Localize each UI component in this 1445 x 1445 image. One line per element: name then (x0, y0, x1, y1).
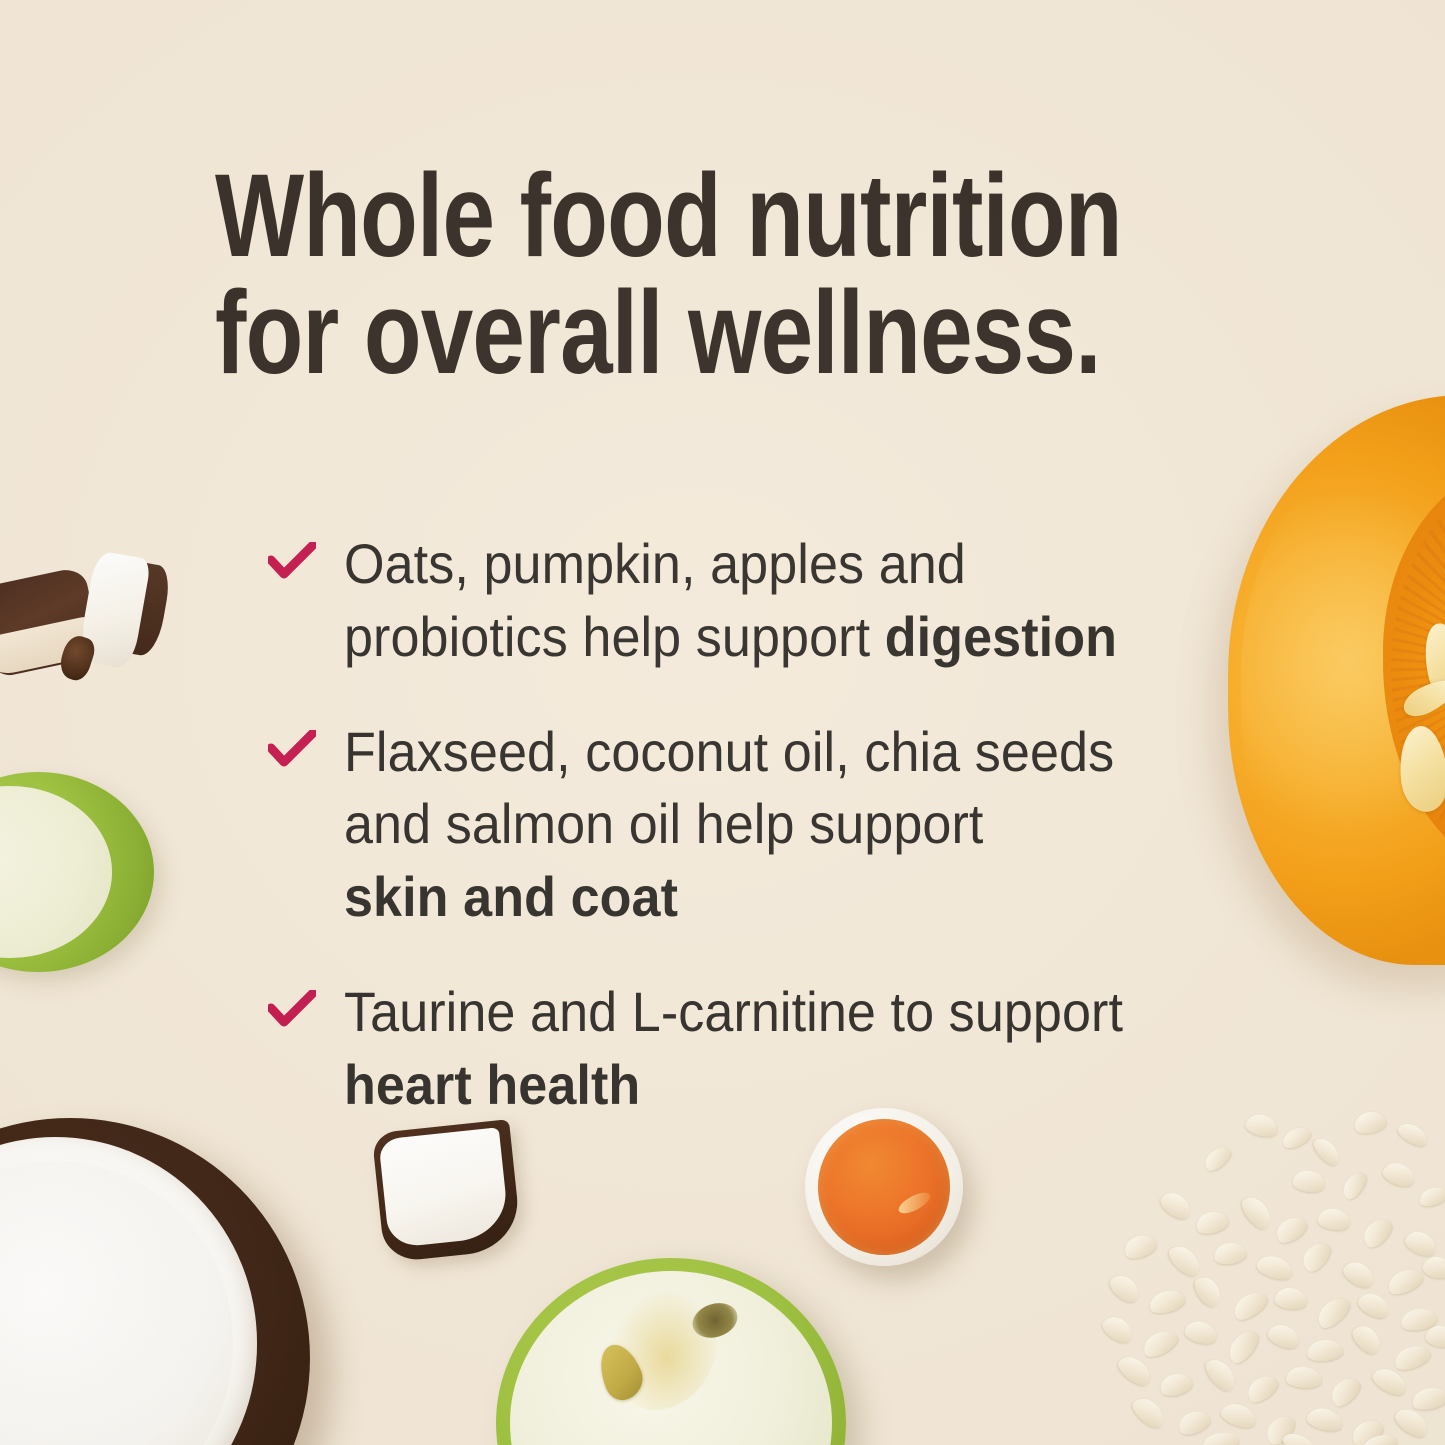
apple-slice-image (0, 772, 154, 972)
apple-half-image (496, 1258, 846, 1445)
promo-graphic: Whole food nutrition for overall wellnes… (0, 0, 1445, 1445)
checkmark-icon (268, 730, 316, 770)
oat-flake (1395, 1119, 1432, 1150)
oat-flake (1183, 1318, 1220, 1347)
oat-flake (1229, 1286, 1270, 1323)
coconut-half-image (0, 1118, 310, 1445)
oat-flake (1157, 1187, 1195, 1223)
oat-flake (1158, 1370, 1194, 1398)
oat-flake (1305, 1405, 1345, 1434)
headline-line-1: Whole food nutrition (215, 158, 1095, 275)
oat-flake (1355, 1288, 1393, 1321)
oat-flake (1298, 1238, 1335, 1276)
oat-flake (1348, 1321, 1385, 1359)
list-item-label: Taurine and L-carnitine to supportheart … (344, 976, 1157, 1122)
oat-flake (1402, 1227, 1440, 1260)
oat-flake (1175, 1407, 1213, 1438)
oat-flake (1391, 1341, 1432, 1373)
list-item-label: Oats, pumpkin, apples andprobiotics help… (344, 528, 1157, 674)
oat-flake (1384, 1264, 1425, 1298)
oat-flake (1417, 1184, 1445, 1209)
oat-flake (1317, 1206, 1352, 1232)
oat-flake (1223, 1326, 1261, 1367)
oat-flake (1121, 1231, 1159, 1262)
headline-line-2: for overall wellness. (215, 275, 1095, 392)
oat-flake (1213, 1241, 1248, 1266)
checkmark-icon (268, 990, 316, 1030)
list-item: Oats, pumpkin, apples andprobiotics help… (268, 528, 1218, 674)
oat-flake (1099, 1312, 1137, 1347)
oat-flake (1107, 1270, 1145, 1307)
oat-flake (1202, 1430, 1240, 1445)
page-title: Whole food nutrition for overall wellnes… (215, 158, 1095, 392)
oat-flake (1380, 1158, 1418, 1189)
oat-flake (1359, 1214, 1396, 1252)
oat-flake (1129, 1392, 1170, 1431)
list-item-label: Flaxseed, coconut oil, chia seedsand sal… (344, 716, 1157, 934)
benefits-list: Oats, pumpkin, apples andprobiotics help… (268, 528, 1218, 1164)
oat-flake (1165, 1240, 1205, 1280)
oat-flake (1312, 1292, 1353, 1331)
oat-flake (1310, 1134, 1344, 1170)
oat-flake (1243, 1370, 1281, 1406)
pumpkin-half-image (1228, 395, 1445, 965)
checkmark-icon (268, 542, 316, 582)
oat-flake (1238, 1191, 1276, 1232)
oat-flake (1352, 1109, 1388, 1136)
oat-flake (1191, 1272, 1226, 1310)
oat-flake (1219, 1400, 1260, 1432)
oat-flake (1410, 1384, 1445, 1412)
oat-flake (1339, 1169, 1370, 1202)
oat-flake (1306, 1338, 1344, 1362)
oat-flake (1285, 1366, 1322, 1389)
list-item: Taurine and L-carnitine to supportheart … (268, 976, 1218, 1122)
oat-flake (1326, 1373, 1364, 1410)
list-item: Flaxseed, coconut oil, chia seedsand sal… (268, 716, 1218, 934)
oat-flake (1421, 1254, 1445, 1280)
oat-flake (1280, 1124, 1313, 1152)
oat-flake (1255, 1252, 1296, 1283)
oat-flake (1274, 1286, 1308, 1310)
oat-flake (1147, 1287, 1187, 1317)
oat-flake (1244, 1112, 1280, 1140)
oat-flake (1139, 1325, 1180, 1360)
oat-flake (1292, 1168, 1327, 1193)
oat-flake (1272, 1212, 1310, 1247)
oat-flake (1340, 1257, 1378, 1292)
oat-flake (1194, 1208, 1230, 1236)
oat-flake (1265, 1320, 1303, 1352)
